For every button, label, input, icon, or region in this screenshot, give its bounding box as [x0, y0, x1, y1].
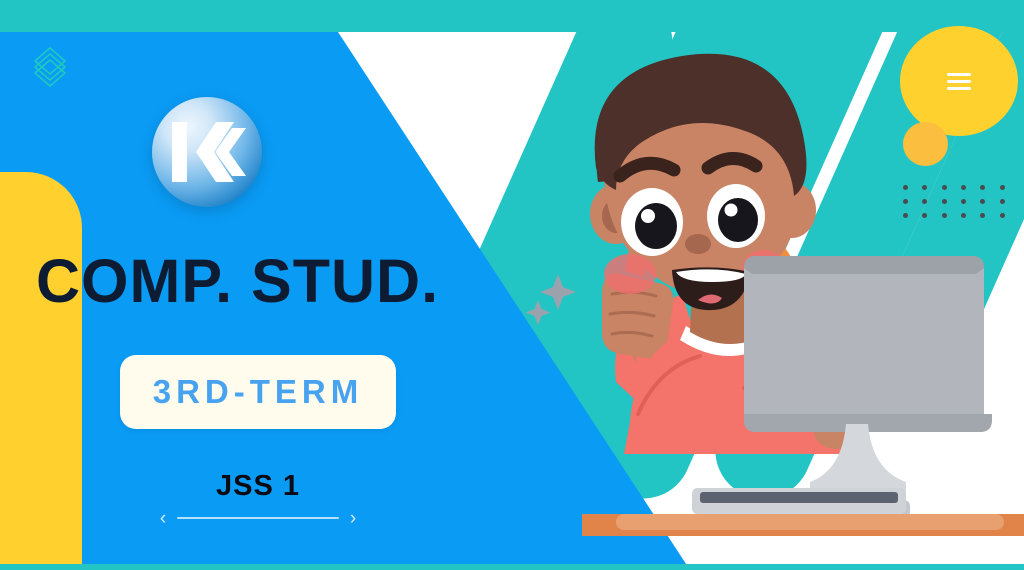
menu-button[interactable]	[900, 26, 1018, 136]
class-level-label: JSS 1	[120, 470, 396, 503]
hamburger-menu-icon	[947, 69, 971, 94]
carousel-progress-track[interactable]	[177, 517, 339, 519]
carousel-nav: ‹ ›	[155, 506, 361, 530]
course-banner: COMP. STUD. 3RD-TERM JSS 1 ‹ ›	[0, 0, 1024, 570]
dot-grid-decoration	[896, 180, 1012, 222]
hamburger-line-2	[947, 80, 971, 83]
term-badge-label: 3RD-TERM	[153, 373, 364, 411]
yellow-accent-slab	[0, 172, 82, 570]
carousel-prev-arrow-icon[interactable]: ‹	[155, 509, 171, 528]
app-logo-orb[interactable]	[152, 97, 262, 207]
top-teal-bar	[0, 0, 1024, 32]
term-badge[interactable]: 3RD-TERM	[120, 355, 396, 429]
carousel-next-arrow-icon[interactable]: ›	[345, 509, 361, 528]
page-title: COMP. STUD.	[36, 251, 506, 312]
hamburger-line-1	[947, 73, 971, 76]
orange-accent-circle	[903, 122, 948, 166]
hamburger-line-3	[947, 87, 971, 90]
layered-diamond-icon	[30, 44, 70, 88]
bottom-teal-bar	[0, 564, 1024, 570]
